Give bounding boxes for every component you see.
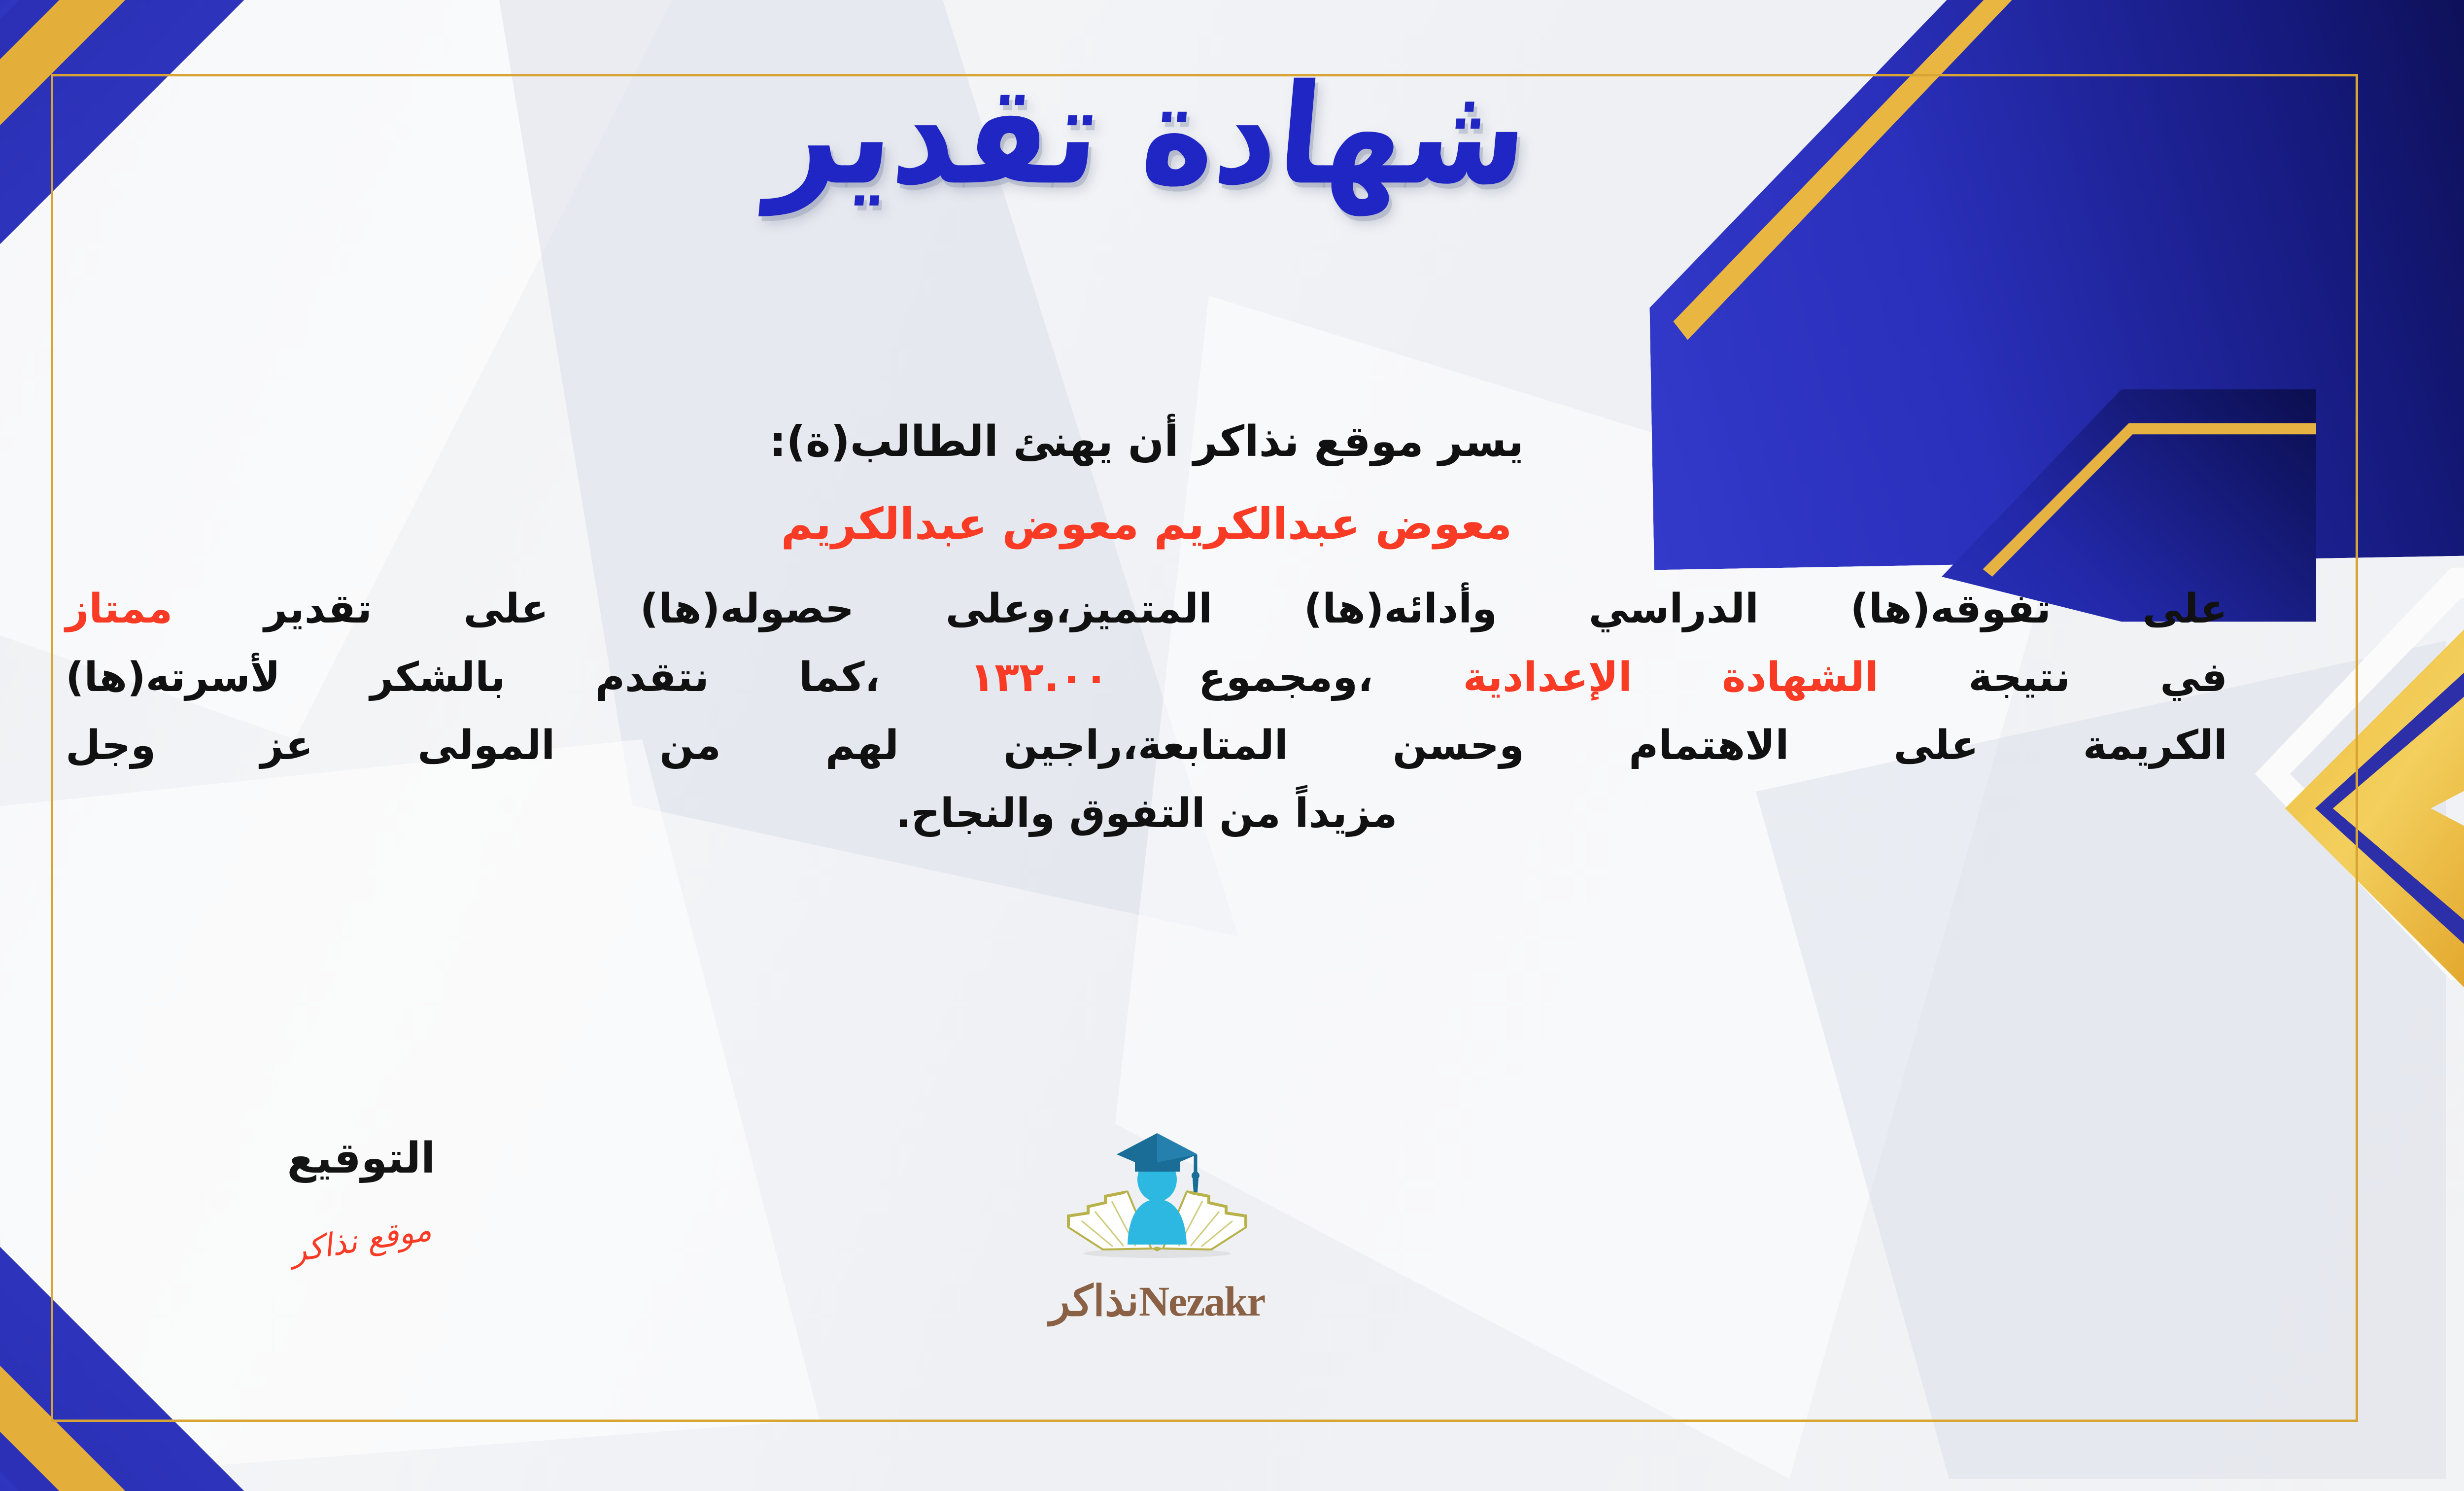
signature-block: التوقيع موقع نذاكر <box>208 1134 514 1259</box>
graduate-book-logo-icon <box>1054 1126 1261 1274</box>
signature-label: التوقيع <box>208 1134 514 1183</box>
greeting-line: يسر موقع نذاكر أن يهنئ الطالب(ة): <box>66 412 2227 472</box>
brand-name-arabic: نذاكر <box>1050 1276 1139 1326</box>
brand-name: Nezakrنذاكر <box>960 1276 1354 1326</box>
grade-value: ممتاز <box>66 586 172 632</box>
certificate-title-area: شهادة تقدير <box>0 52 2464 218</box>
family-thanks-line: الكريمة على الاهتمام وحسن المتابعة،راجين… <box>66 717 2227 774</box>
certificate-body: يسر موقع نذاكر أن يهنئ الطالب(ة): معوض ع… <box>66 412 2227 854</box>
exam-result-line: في نتيجة الشهادة الإعدادية ،ومجموع ١٣٢.٠… <box>66 649 2227 706</box>
total-score: ١٣٢.٠٠ <box>970 654 1108 701</box>
closing-line: مزيداً من التفوق والنجاح. <box>66 785 2227 842</box>
result-prefix: في نتيجة <box>1968 654 2227 701</box>
brand-logo-block: Nezakrنذاكر <box>960 1126 1354 1326</box>
student-name: معوض عبدالكريم معوض عبدالكريم <box>66 493 2227 555</box>
certificate-canvas: شهادة تقدير يسر موقع نذاكر أن يهنئ الطال… <box>0 0 2464 1491</box>
achievement-line: على تفوقه(ها) الدراسي وأدائه(ها) المتميز… <box>66 581 2227 638</box>
thanks-prefix: ،كما نتقدم بالشكر لأسرته(ها) <box>66 654 880 701</box>
page-title: شهادة تقدير <box>762 42 1535 228</box>
total-prefix: ،ومجموع <box>1198 654 1373 701</box>
achievement-text: على تفوقه(ها) الدراسي وأدائه(ها) المتميز… <box>264 586 2227 632</box>
exam-name: الشهادة الإعدادية <box>1463 654 1879 701</box>
brand-name-latin: Nezakr <box>1139 1278 1265 1325</box>
